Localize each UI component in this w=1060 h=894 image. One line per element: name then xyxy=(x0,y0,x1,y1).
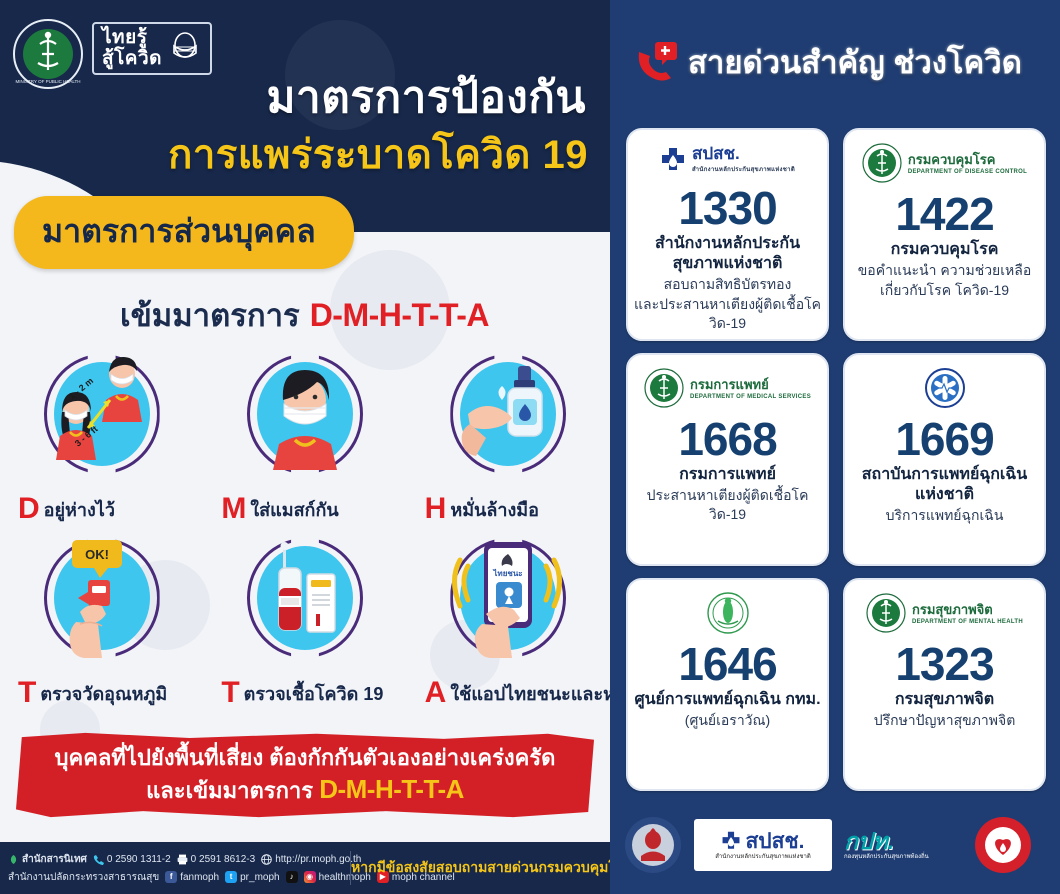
hotline-card-1669[interactable]: 1669 สถาบันการแพทย์ฉุกเฉินแห่งชาติ บริกา… xyxy=(843,353,1046,566)
covid-test-kit-icon xyxy=(239,536,371,662)
leaf-icon xyxy=(8,854,19,865)
social-distancing-icon: 1 - 2 m 3 - 6 ft xyxy=(36,352,168,478)
footer-org-sub: สำนักงานปลัดกระทรวงสาธารณสุข xyxy=(8,870,159,885)
nhso-logo: สปสช. สำนักงานหลักประกันสุขภาพแห่งชาติ xyxy=(694,819,832,871)
globe-icon xyxy=(261,854,272,865)
heart-health-logo xyxy=(974,816,1032,874)
measures-grid: 1 - 2 m 3 - 6 ft Dอยู่ห่างไว้ xyxy=(0,352,610,716)
dmhtta-code: D-M-H-T-T-A xyxy=(310,297,489,334)
card-logo-1668: กรมการแพทย์ DEPARTMENT OF MEDICAL SERVIC… xyxy=(644,365,811,411)
niems-star-of-life-logo xyxy=(924,367,966,409)
footer-contact-block: สำนักสารนิเทศ 0 2590 1311-2 0 2591 8612-… xyxy=(0,852,350,885)
measure-text: ใช้แอปไทยชนะและหมอชนะ xyxy=(450,684,610,704)
measure-item-t-test: Tตรวจเชื้อโควิด 19 xyxy=(203,536,406,716)
partner-logos: สปสช. สำนักงานหลักประกันสุขภาพแห่งชาติ ก… xyxy=(624,814,1044,876)
footer-org-label: สำนักสารนิเทศ xyxy=(22,852,87,867)
thermometer-icon: OK! xyxy=(36,536,168,662)
svg-text:MINISTRY OF PUBLIC HEALTH: MINISTRY OF PUBLIC HEALTH xyxy=(15,79,80,84)
dms-caduceus-logo xyxy=(644,368,684,408)
hotline-org: สถาบันการแพทย์ฉุกเฉินแห่งชาติ xyxy=(851,465,1038,505)
card-logo-name: กรมควบคุมโรค xyxy=(908,152,996,167)
card-logo-name: กรมการแพทย์ xyxy=(690,377,769,392)
badge-personal-measures: มาตรการส่วนบุคคล xyxy=(14,196,354,269)
card-logo-1669 xyxy=(924,365,966,411)
bangkok-metropolitan-seal xyxy=(624,816,682,874)
left-panel: MINISTRY OF PUBLIC HEALTH ไทยรู้ สู้โควิ… xyxy=(0,0,610,894)
hand-sanitizer-icon xyxy=(442,352,574,478)
footer-phone-value: 0 2590 1311-2 xyxy=(107,852,171,867)
hotline-desc-line: ปรึกษาปัญหาสุขภาพจิต xyxy=(874,711,1016,730)
wear-mask-icon xyxy=(239,352,371,478)
hotline-number: 1330 xyxy=(678,182,776,234)
card-logo-name: กรมสุขภาพจิต xyxy=(912,602,993,617)
footer-hotline-note: หากมีข้อสงสัยสอบถามสายด่วนกรมควบคุมโรค 1… xyxy=(350,851,610,885)
hotline-org: กรมสุขภาพจิต xyxy=(895,690,994,710)
kpt-logo-sub: กองทุนหลักประกันสุขภาพท้องถิ่น xyxy=(844,853,962,861)
instagram-icon: ◉ xyxy=(304,871,316,883)
hotline-header-title: สายด่วนสำคัญ ช่วงโควิด xyxy=(688,37,1022,87)
measure-text: หมั่นล้างมือ xyxy=(450,500,539,520)
card-logo-1323: กรมสุขภาพจิต DEPARTMENT OF MENTAL HEALTH xyxy=(866,590,1023,636)
footer-fax-value: 0 2591 8612-3 xyxy=(191,852,256,867)
measure-text: ใส่แมสก์กัน xyxy=(250,500,338,520)
hotline-card-1668[interactable]: กรมการแพทย์ DEPARTMENT OF MEDICAL SERVIC… xyxy=(626,353,829,566)
thairoo-logo: ไทยรู้ สู้โควิด xyxy=(92,22,212,75)
warning-banner: บุคคลที่ไปยังพื้นที่เสี่ยง ต้องกักกันตัว… xyxy=(16,732,594,818)
nhso-logo-sub: สำนักงานหลักประกันสุขภาพแห่งชาติ xyxy=(715,853,811,861)
hotline-desc-line: ประสานหาเตียงผู้ติดเชื้อโควิด-19 xyxy=(634,486,821,524)
footer-org: สำนักสารนิเทศ xyxy=(8,852,87,867)
card-logo-sub: DEPARTMENT OF DISEASE CONTROL xyxy=(908,169,1027,175)
kpt-logo: กปท. กองทุนหลักประกันสุขภาพท้องถิ่น xyxy=(844,821,962,869)
warning-line2-code: D-M-H-T-T-A xyxy=(319,774,464,804)
measure-caption-t1: Tตรวจวัดอุณหภูมิ xyxy=(0,676,203,710)
hotline-desc-line: เกี่ยวกับโรค โควิด-19 xyxy=(880,281,1009,300)
measure-caption-a: Aใช้แอปไทยชนะและหมอชนะ xyxy=(407,676,610,710)
measure-text: ตรวจวัดอุณหภูมิ xyxy=(40,684,167,704)
ministry-of-public-health-seal: MINISTRY OF PUBLIC HEALTH xyxy=(12,18,84,90)
card-logo-1330: สปสช. สำนักงานหลักประกันสุขภาพแห่งชาติ xyxy=(660,140,795,180)
measure-item-t-temperature: OK! Tตรวจวัดอุณหภูมิ xyxy=(0,536,203,716)
measure-letter: D xyxy=(18,492,40,525)
footer-website-value: http://pr.moph.go.th xyxy=(275,852,361,867)
twitter-icon: t xyxy=(225,871,237,883)
measure-caption-h: Hหมั่นล้างมือ xyxy=(407,492,610,526)
left-footer: สำนักสารนิเทศ 0 2590 1311-2 0 2591 8612-… xyxy=(0,842,610,894)
warning-line2: และเข้มมาตรการ D-M-H-T-T-A xyxy=(16,773,594,807)
facebook-icon: f xyxy=(165,871,177,883)
measure-item-m: Mใส่แมสก์กัน xyxy=(203,352,406,532)
card-logo-1646 xyxy=(706,590,750,636)
footer-fax: 0 2591 8612-3 xyxy=(177,852,256,867)
hotline-number: 1323 xyxy=(895,638,993,690)
dmh-caduceus-logo xyxy=(866,593,906,633)
warning-line2-prefix: และเข้มมาตรการ xyxy=(146,778,313,803)
hotline-org: ศูนย์การแพทย์ฉุกเฉิน กทม. xyxy=(634,690,820,710)
card-logo-1422: กรมควบคุมโรค DEPARTMENT OF DISEASE CONTR… xyxy=(862,140,1027,186)
card-logo-name: สปสช. xyxy=(692,144,740,163)
card-logo-sub: DEPARTMENT OF MEDICAL SERVICES xyxy=(690,394,811,400)
card-logo-sub: สำนักงานหลักประกันสุขภาพแห่งชาติ xyxy=(692,164,795,174)
tiktok-icon: ♪ xyxy=(286,871,298,883)
hotline-card-1330[interactable]: สปสช. สำนักงานหลักประกันสุขภาพแห่งชาติ 1… xyxy=(626,128,829,341)
printer-icon xyxy=(177,854,188,865)
face-mask-icon xyxy=(168,30,202,66)
svg-text:OK!: OK! xyxy=(85,547,109,562)
hotline-number: 1668 xyxy=(678,413,776,465)
hotline-desc-line: สอบถามสิทธิบัตรทอง xyxy=(664,275,792,294)
nhso-cross-icon xyxy=(721,831,741,851)
erawan-center-logo xyxy=(706,591,750,635)
right-panel: สายด่วนสำคัญ ช่วงโควิด สปสช. สำนักงานหลั… xyxy=(610,0,1060,894)
hotline-org: กรมควบคุมโรค xyxy=(891,240,999,260)
hotline-desc-line: และประสานหาเตียงผู้ติดเชื้อโควิด-19 xyxy=(634,295,821,333)
svg-text:ไทยชนะ: ไทยชนะ xyxy=(493,568,523,578)
hotline-desc-line: (ศูนย์เอราวัณ) xyxy=(685,711,770,730)
measure-caption-m: Mใส่แมสก์กัน xyxy=(203,492,406,526)
measure-text: อยู่ห่างไว้ xyxy=(44,500,115,520)
hotline-number: 1669 xyxy=(895,413,993,465)
measure-letter: T xyxy=(18,676,36,709)
hotline-card-1646[interactable]: 1646 ศูนย์การแพทย์ฉุกเฉิน กทม. (ศูนย์เอร… xyxy=(626,578,829,791)
nhso-logo-text: สปสช. xyxy=(745,830,804,853)
hotline-org: กรมการแพทย์ xyxy=(679,465,776,485)
hotline-card-1323[interactable]: กรมสุขภาพจิต DEPARTMENT OF MENTAL HEALTH… xyxy=(843,578,1046,791)
measure-item-d: 1 - 2 m 3 - 6 ft Dอยู่ห่างไว้ xyxy=(0,352,203,532)
hotline-number: 1646 xyxy=(678,638,776,690)
card-logo-sub: DEPARTMENT OF MENTAL HEALTH xyxy=(912,619,1023,625)
measure-item-a: ไทยชนะ Aใช้แอปไทยชนะและหมอชนะ xyxy=(407,536,610,716)
poster-root: MINISTRY OF PUBLIC HEALTH ไทยรู้ สู้โควิ… xyxy=(0,0,1060,894)
warning-line1: บุคคลที่ไปยังพื้นที่เสี่ยง ต้องกักกันตัว… xyxy=(16,743,594,773)
footer-website[interactable]: http://pr.moph.go.th xyxy=(261,852,361,867)
footer-twitter[interactable]: t pr_moph xyxy=(225,870,279,885)
hotline-cards-grid: สปสช. สำนักงานหลักประกันสุขภาพแห่งชาติ 1… xyxy=(626,128,1046,791)
hotline-header: สายด่วนสำคัญ ช่วงโควิด xyxy=(610,34,1060,90)
footer-tiktok[interactable]: ♪ xyxy=(286,871,298,883)
measure-letter: T xyxy=(221,676,239,709)
hotline-number: 1422 xyxy=(895,188,993,240)
hotline-org: สำนักงานหลักประกันสุขภาพแห่งชาติ xyxy=(634,234,821,274)
page-title-line2: การแพร่ระบาดโควิด 19 xyxy=(168,122,588,186)
measure-caption-d: Dอยู่ห่างไว้ xyxy=(0,492,203,526)
hotline-desc-line: ขอคำแนะนำ ความช่วยเหลือ xyxy=(858,261,1032,280)
footer-facebook[interactable]: f fanmoph xyxy=(165,870,219,885)
footer-facebook-value: fanmoph xyxy=(180,870,219,885)
measure-letter: H xyxy=(425,492,447,525)
measure-caption-t2: Tตรวจเชื้อโควิด 19 xyxy=(203,676,406,710)
footer-phone[interactable]: 0 2590 1311-2 xyxy=(93,852,171,867)
thairoo-line2: สู้โควิด xyxy=(102,48,162,69)
hotline-desc-line: บริการแพทย์ฉุกเฉิน xyxy=(886,506,1004,525)
phone-medical-icon xyxy=(634,40,678,84)
phone-icon xyxy=(93,854,104,865)
footer-twitter-value: pr_moph xyxy=(240,870,279,885)
measure-letter: M xyxy=(221,492,246,525)
measure-item-h: Hหมั่นล้างมือ xyxy=(407,352,610,532)
ddc-caduceus-logo xyxy=(862,143,902,183)
measure-letter: A xyxy=(425,676,447,709)
thairoo-line1: ไทยรู้ xyxy=(102,27,162,48)
dmhtta-prefix: เข้มมาตรการ xyxy=(120,290,300,340)
dmhtta-headline: เข้มมาตรการ D-M-H-T-T-A xyxy=(120,290,489,340)
nhso-cross-logo xyxy=(660,147,686,173)
kpt-logo-text: กปท. xyxy=(844,829,962,853)
hotline-card-1422[interactable]: กรมควบคุมโรค DEPARTMENT OF DISEASE CONTR… xyxy=(843,128,1046,341)
measure-text: ตรวจเชื้อโควิด 19 xyxy=(244,684,384,704)
mobile-app-icon: ไทยชนะ xyxy=(442,536,574,662)
